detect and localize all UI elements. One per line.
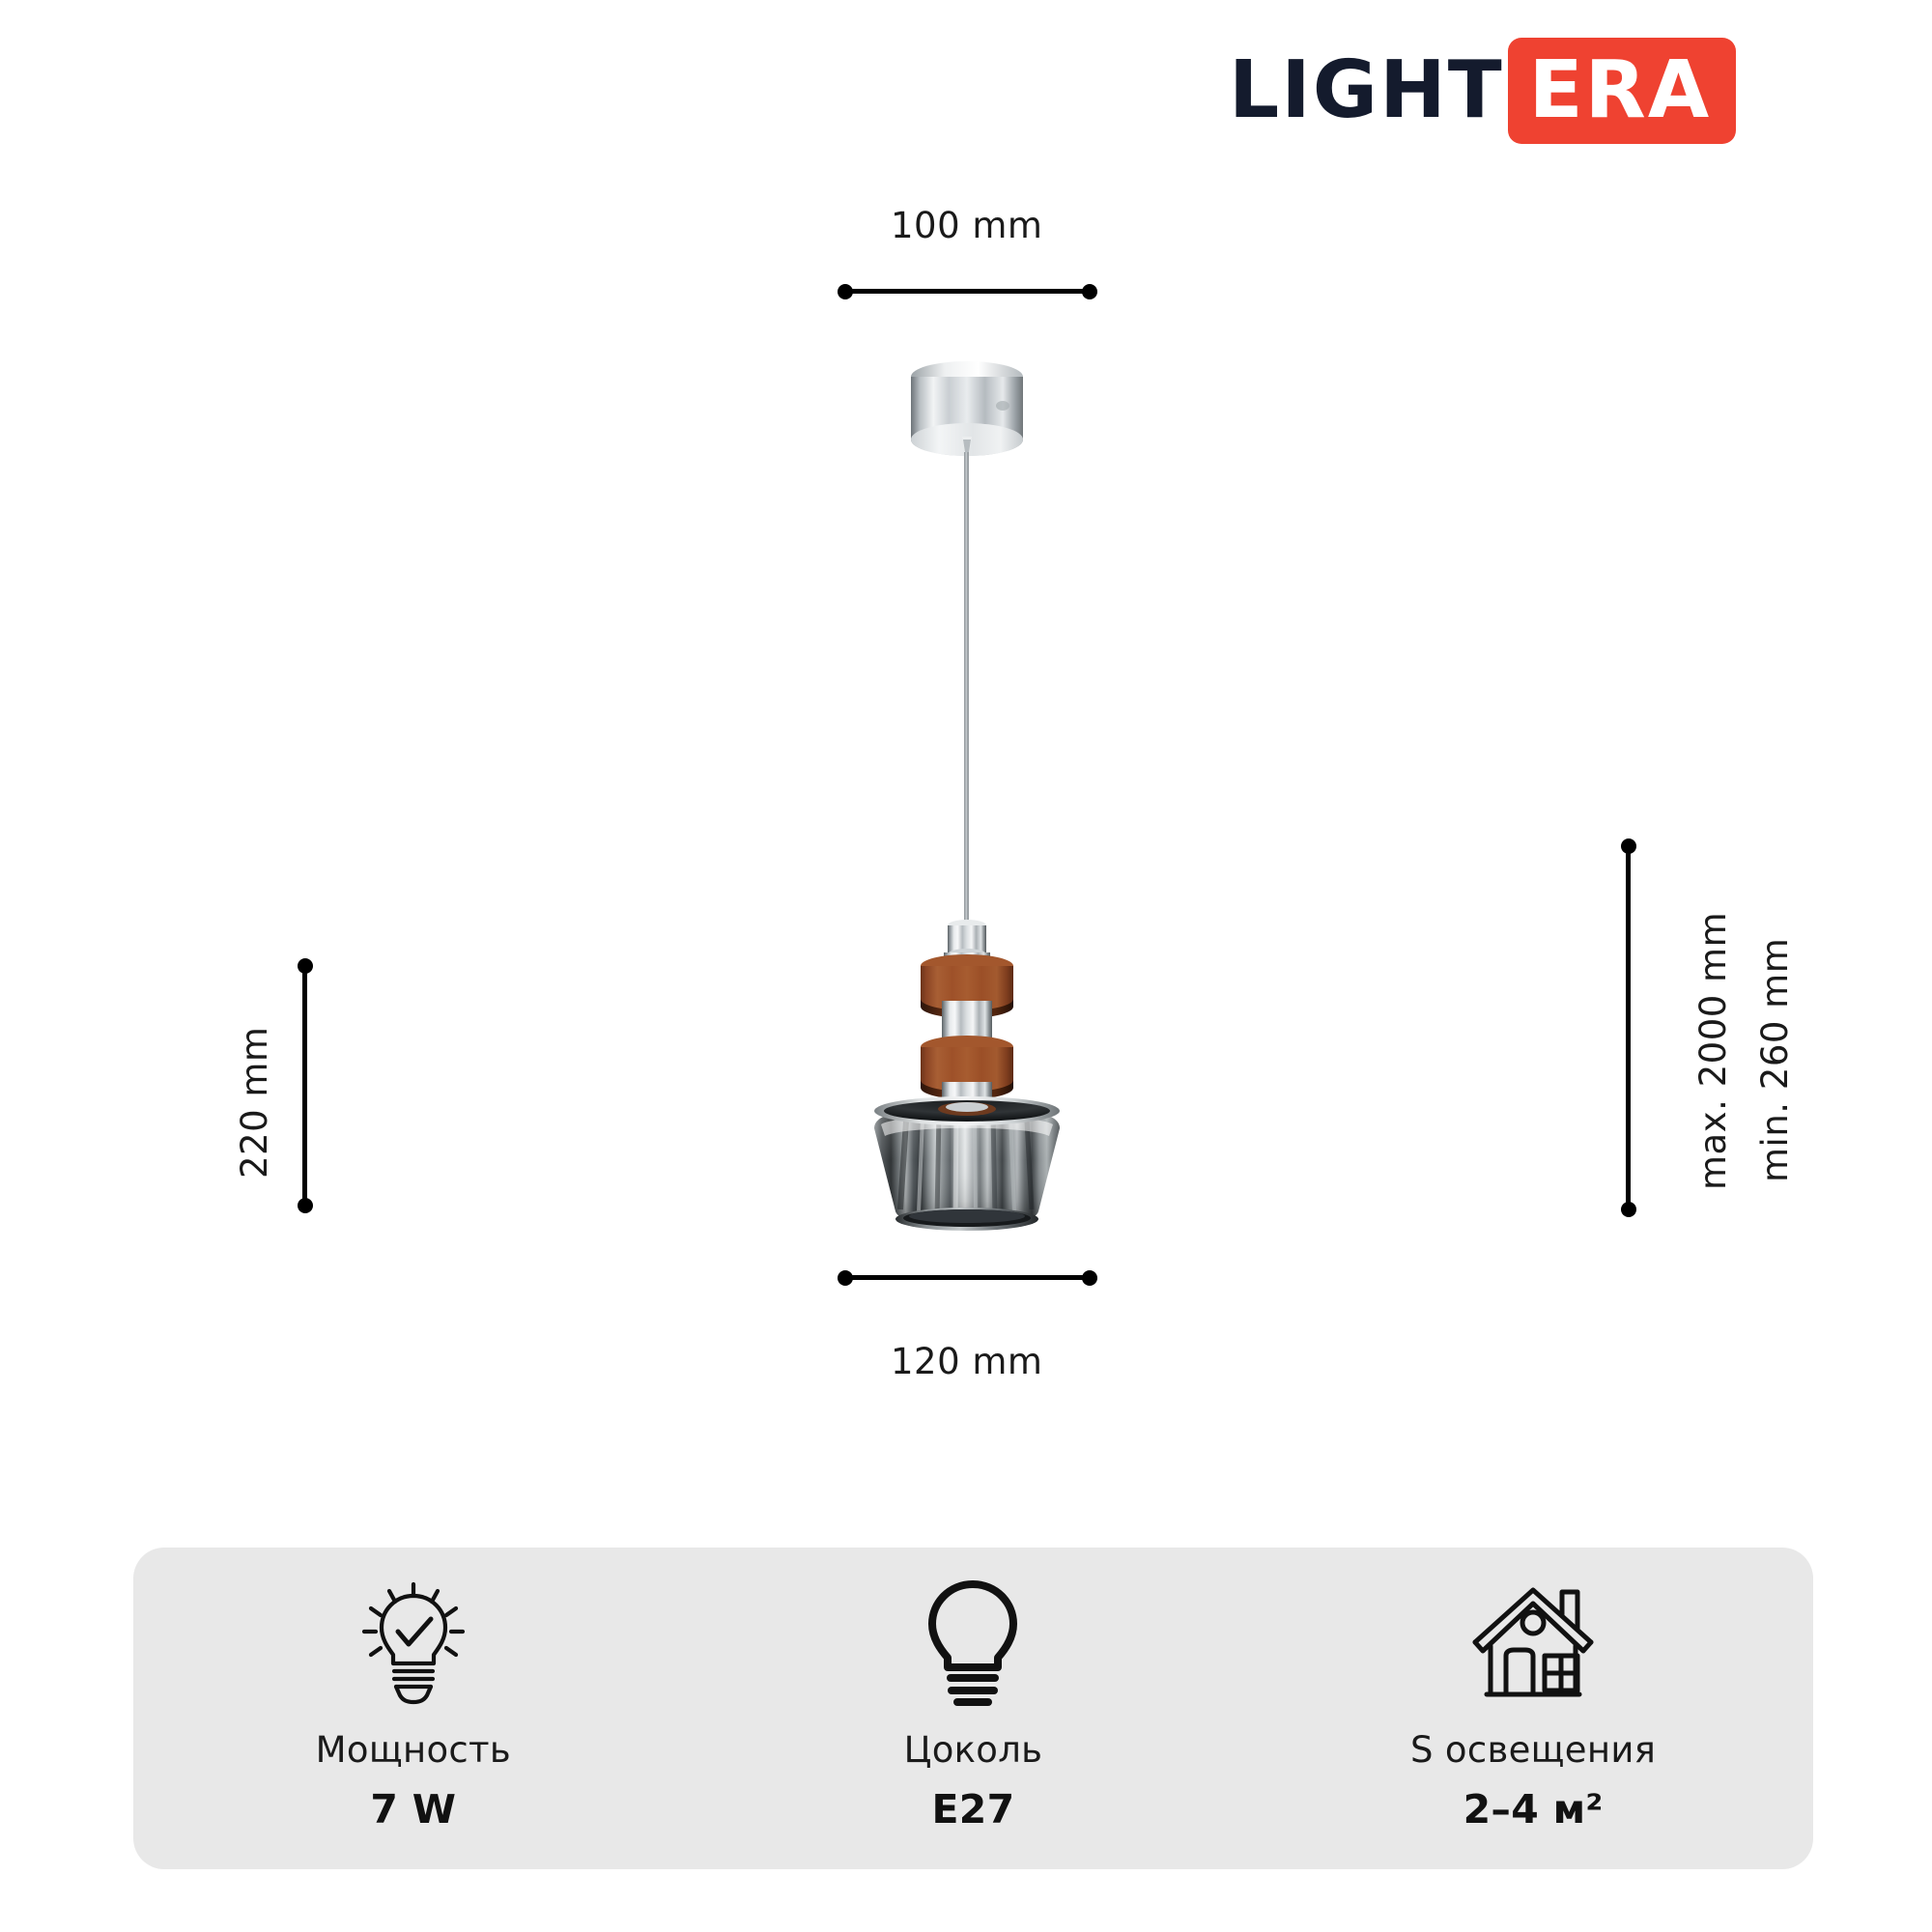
spec-item-power: Мощность 7 W — [133, 1548, 694, 1833]
wood-ring-lower — [921, 1036, 1013, 1099]
house-icon — [1469, 1578, 1597, 1706]
suspension-cable — [964, 452, 969, 923]
brand-logo: LIGHT ERA — [1229, 41, 1736, 141]
dimension-dot-right-bottom — [1621, 1202, 1636, 1217]
bulb-check-icon — [350, 1578, 477, 1706]
logo-text-light: LIGHT — [1229, 51, 1508, 130]
dimension-dot-right-top — [1621, 838, 1636, 854]
spec-item-area: S освещения 2–4 м² — [1253, 1548, 1813, 1833]
bulb-icon — [909, 1578, 1037, 1706]
dimension-dot-top-right — [1082, 284, 1097, 299]
spec-value-area: 2–4 м² — [1463, 1786, 1604, 1833]
dimension-dot-left-bottom — [298, 1198, 313, 1213]
spec-item-socket: Цоколь E27 — [694, 1548, 1254, 1833]
dimension-label-drop-min: min. 260 mm — [1754, 938, 1796, 1182]
chrome-socket-top — [944, 920, 990, 966]
spec-label-socket: Цоколь — [904, 1729, 1043, 1771]
dimension-line-drop — [1626, 846, 1631, 1209]
dimension-dot-bottom-right — [1082, 1270, 1097, 1286]
dimension-dot-bottom-left — [838, 1270, 853, 1286]
chrome-stem-mid — [942, 1001, 992, 1053]
glass-shade — [874, 1096, 1060, 1231]
spec-value-power: 7 W — [370, 1786, 456, 1833]
dimension-label-top-width: 100 mm — [891, 205, 1042, 246]
wood-ring-upper — [921, 954, 1013, 1018]
dimension-line-bottom-width — [845, 1275, 1090, 1280]
dimension-line-shade-height — [302, 966, 307, 1206]
dimension-label-shade-height: 220 mm — [234, 1027, 275, 1179]
chrome-stem-lower — [942, 1082, 992, 1109]
dimension-dot-top-left — [838, 284, 853, 299]
dimension-dot-left-top — [298, 958, 313, 974]
dimension-label-drop-max: max. 2000 mm — [1692, 912, 1734, 1190]
spec-label-area: S освещения — [1410, 1729, 1656, 1771]
specifications-panel: Мощность 7 W Цоколь E27 — [133, 1548, 1813, 1869]
spec-label-power: Мощность — [316, 1729, 511, 1771]
logo-era-badge: ERA — [1508, 38, 1737, 144]
logo-text-era: ERA — [1529, 51, 1712, 130]
dimension-label-bottom-width: 120 mm — [891, 1341, 1042, 1382]
dimension-line-top-width — [845, 289, 1090, 294]
ceiling-canopy — [911, 361, 1023, 456]
spec-value-socket: E27 — [932, 1786, 1015, 1833]
